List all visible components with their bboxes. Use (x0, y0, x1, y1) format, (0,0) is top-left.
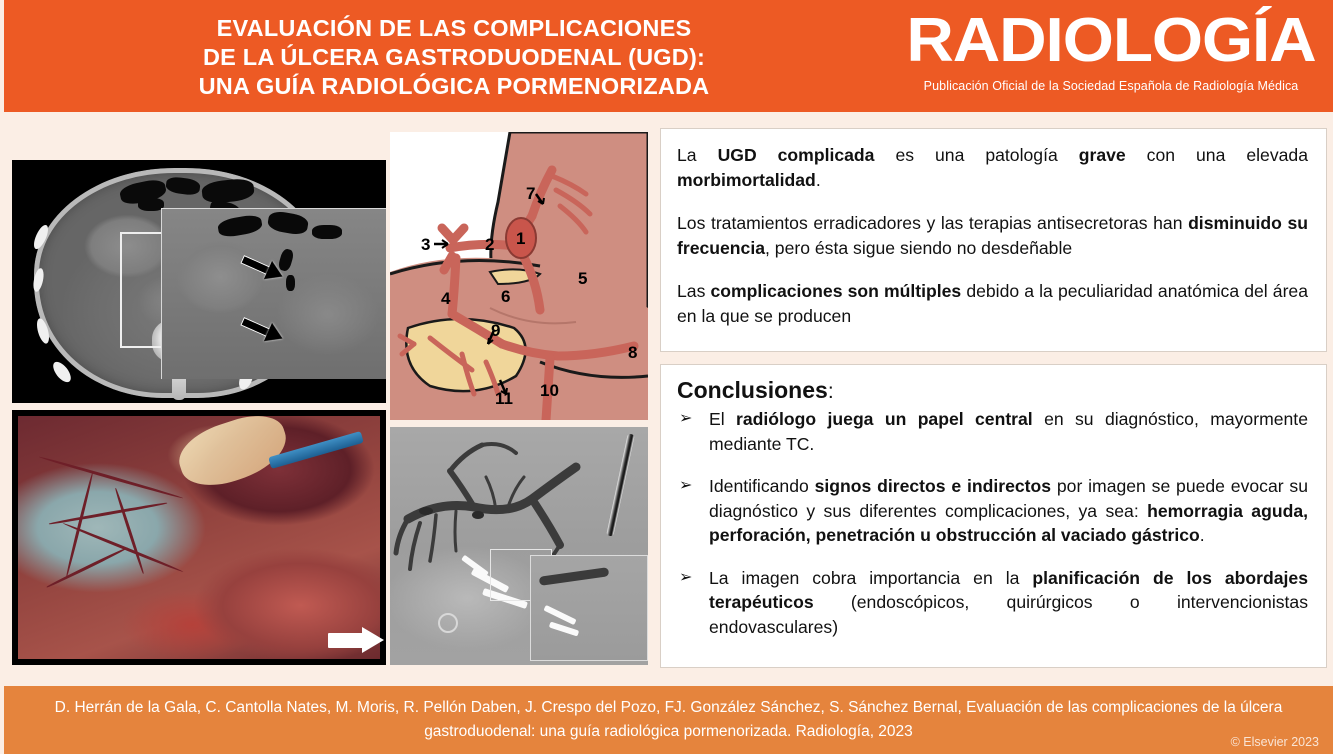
conclusion-bullet: ➢ Identificando signos directos e indire… (677, 474, 1308, 548)
laparoscopic-photo (18, 416, 380, 659)
intro-panel: La UGD complicada es una patología grave… (660, 128, 1327, 352)
conclusions-heading-colon: : (828, 380, 834, 403)
anatomy-figure: 1 2 3 4 5 6 7 8 9 10 11 (390, 132, 648, 420)
svg-text:5: 5 (578, 269, 587, 288)
conclusion-bullet: ➢ La imagen cobra importancia en la plan… (677, 566, 1308, 640)
poster-footer: D. Herrán de la Gala, C. Cantolla Nates,… (4, 686, 1333, 754)
conclusion-bullet-text: El radiólogo juega un papel central en s… (709, 407, 1308, 456)
svg-text:2: 2 (485, 235, 494, 254)
dsa-image (390, 427, 648, 665)
svg-text:8: 8 (628, 343, 637, 362)
anatomy-illustration: 1 2 3 4 5 6 7 8 9 10 11 (390, 132, 648, 420)
bullet-arrow-icon: ➢ (677, 407, 709, 456)
text-column-right: La UGD complicada es una patología grave… (660, 128, 1327, 668)
intro-paragraph: Los tratamientos erradicadores y las ter… (677, 211, 1308, 260)
conclusions-panel: Conclusiones: ➢ El radiólogo juega un pa… (660, 364, 1327, 668)
svg-text:4: 4 (441, 289, 451, 308)
intro-paragraph: Las complicaciones son múltiples debido … (677, 279, 1308, 328)
bullet-arrow-icon: ➢ (677, 474, 709, 548)
surgery-figure (12, 410, 386, 665)
bullet-arrow-icon: ➢ (677, 566, 709, 640)
figure-column-left (12, 160, 386, 665)
title-line-1: EVALUACIÓN DE LAS COMPLICACIONES (4, 14, 904, 43)
angio-ring-marker (438, 613, 458, 633)
conclusions-heading: Conclusiones: (677, 377, 1308, 404)
page-title: EVALUACIÓN DE LAS COMPLICACIONES DE LA Ú… (4, 14, 904, 101)
journal-logo: RADIOLOGÍA Publicación Oficial de la Soc… (911, 6, 1311, 94)
svg-text:3: 3 (421, 235, 430, 254)
poster-header: EVALUACIÓN DE LAS COMPLICACIONES DE LA Ú… (4, 0, 1333, 112)
ct-figure (12, 160, 386, 403)
intro-paragraph: La UGD complicada es una patología grave… (677, 143, 1308, 192)
copyright-text: © Elsevier 2023 (1231, 735, 1319, 749)
svg-text:9: 9 (491, 321, 500, 340)
conclusion-bullet-text: Identificando signos directos e indirect… (709, 474, 1308, 548)
poster-body: 1 2 3 4 5 6 7 8 9 10 11 (0, 112, 1333, 686)
title-line-2: DE LA ÚLCERA GASTRODUODENAL (UGD): (4, 43, 904, 72)
figure-column-middle: 1 2 3 4 5 6 7 8 9 10 11 (390, 132, 648, 665)
journal-logo-wordmark: RADIOLOGÍA (899, 6, 1323, 76)
title-line-3: UNA GUÍA RADIOLÓGICA PORMENORIZADA (4, 72, 904, 101)
citation-text: D. Herrán de la Gala, C. Cantolla Nates,… (20, 696, 1317, 744)
svg-text:6: 6 (501, 287, 510, 306)
conclusion-bullet-text: La imagen cobra importancia en la planif… (709, 566, 1308, 640)
ct-magnified-inset (161, 208, 386, 379)
poster-root: EVALUACIÓN DE LAS COMPLICACIONES DE LA Ú… (0, 0, 1333, 754)
angio-magnified-inset (530, 555, 648, 661)
svg-text:10: 10 (540, 381, 559, 400)
svg-text:7: 7 (526, 184, 535, 203)
svg-text:1: 1 (516, 229, 525, 248)
journal-logo-subtitle: Publicación Oficial de la Sociedad Españ… (911, 78, 1311, 94)
conclusions-heading-text: Conclusiones (677, 377, 828, 403)
conclusion-bullet: ➢ El radiólogo juega un papel central en… (677, 407, 1308, 456)
angiography-figure (390, 427, 648, 665)
